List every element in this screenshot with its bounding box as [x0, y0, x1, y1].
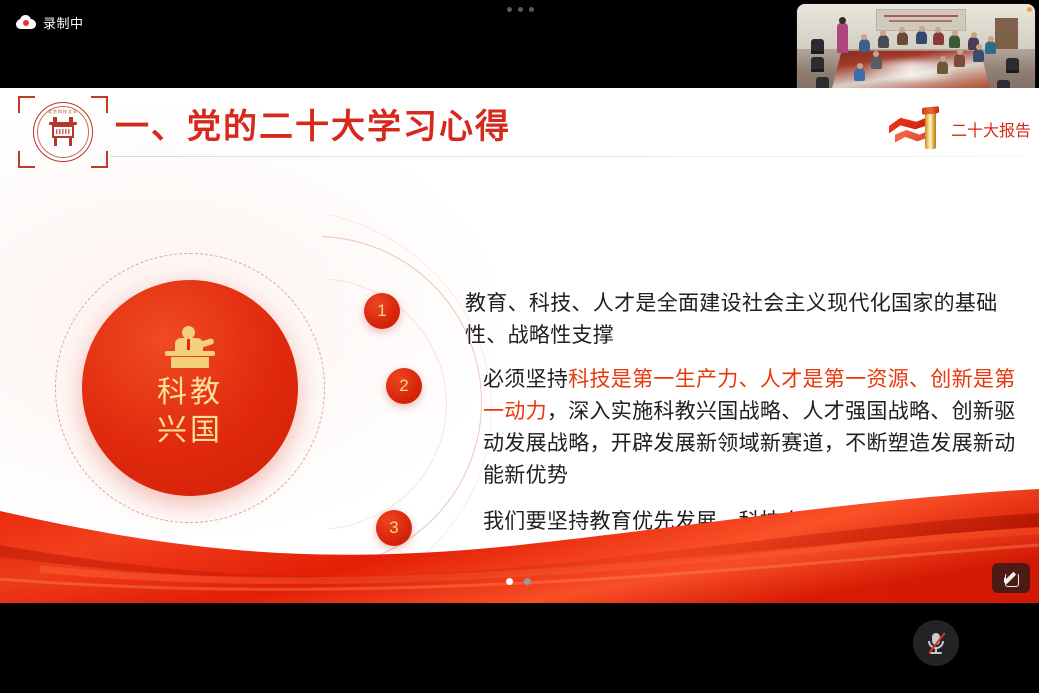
- corner-mark-top-left: [18, 96, 35, 113]
- recording-label: 录制中: [43, 13, 84, 32]
- emblem-text-line2: 兴国: [157, 412, 223, 450]
- report-badge-label: 二十大报告: [951, 117, 1031, 141]
- corner-mark-bottom-right: [91, 151, 108, 168]
- recording-indicator: 录制中: [16, 12, 84, 32]
- microphone-toggle-button[interactable]: [913, 620, 959, 666]
- slide-header: 北京科技大学 一、党的二十大学习心得: [0, 88, 1039, 170]
- point-number-badge: 1: [364, 293, 400, 329]
- red-ribbon-scroll-icon: [889, 107, 947, 151]
- corner-mark-top-right: [91, 96, 108, 113]
- corner-mark-bottom-left: [18, 151, 35, 168]
- bottom-bar: [0, 603, 1039, 693]
- pen-annotate-icon: [1002, 569, 1021, 588]
- cloud-recording-icon: [16, 16, 36, 29]
- annotate-button[interactable]: [992, 563, 1030, 593]
- point-segment: 必须坚持: [483, 368, 568, 391]
- point-segment: 我们要坚持教育优先发展、科技自立自强、人才引领驱动: [483, 510, 1016, 533]
- emblem-text-line1: 科教: [157, 374, 223, 412]
- point-number-badge: 3: [376, 510, 412, 546]
- presentation-slide[interactable]: 北京科技大学 一、党的二十大学习心得: [0, 88, 1039, 603]
- point-text: 教育、科技、人才是全面建设社会主义现代化国家的基础性、战略性支撑: [465, 288, 1020, 352]
- list-item: 3 我们要坚持教育优先发展、科技自立自强、人才引领驱动: [360, 506, 1020, 538]
- speaker-podium-icon: [161, 326, 219, 368]
- pagination-dot-active[interactable]: [506, 578, 513, 585]
- point-text: 我们要坚持教育优先发展、科技自立自强、人才引领驱动: [483, 506, 1020, 538]
- emblem-graphic: 科教 兴国: [55, 253, 325, 523]
- point-segment: ，深入实施科教兴国战略、人才强国战略、创新驱动发展战略，开辟发展新领域新赛道，不…: [483, 400, 1016, 487]
- list-item: 2 必须坚持科技是第一生产力、人才是第一资源、创新是第一动力，深入实施科教兴国战…: [360, 364, 1020, 492]
- top-bar: 录制中: [0, 0, 1039, 88]
- video-status-dot: [1027, 7, 1032, 12]
- title-divider: [110, 156, 1022, 157]
- point-number-badge: 2: [386, 368, 422, 404]
- point-text: 办好人民满意的教育，全面贯彻党的教育方针，把各方面优秀人才集聚到党和人民事业中来: [460, 552, 1020, 603]
- university-seal-icon: 北京科技大学: [33, 102, 93, 162]
- logo-frame: 北京科技大学: [18, 96, 108, 168]
- points-list: 1 教育、科技、人才是全面建设社会主义现代化国家的基础性、战略性支撑 2 必须坚…: [360, 288, 1020, 603]
- point-segment: 教育、科技、人才是全面建设社会主义现代化国家的基础性、战略性支撑: [465, 292, 998, 347]
- slide-pagination-dots[interactable]: [506, 578, 531, 585]
- list-item: 1 教育、科技、人才是全面建设社会主义现代化国家的基础性、战略性支撑: [360, 288, 1020, 352]
- point-number-badge: 4: [328, 558, 364, 594]
- report-badge: 二十大报告: [889, 106, 1031, 152]
- seal-top-text: 北京科技大学: [34, 109, 92, 115]
- emblem-circle: 科教 兴国: [82, 280, 298, 496]
- list-item: 4 办好人民满意的教育，全面贯彻党的教育方针，把各方面优秀人才集聚到党和人民事业…: [360, 552, 1020, 603]
- point-segment: 办好人民满意的教育，全面贯彻党的教育方针，: [460, 556, 907, 579]
- point-text: 必须坚持科技是第一生产力、人才是第一资源、创新是第一动力，深入实施科教兴国战略、…: [483, 364, 1020, 492]
- pagination-dot[interactable]: [524, 578, 531, 585]
- meeting-screen-share-app: 录制中: [0, 0, 1039, 693]
- page-title: 一、党的二十大学习心得: [115, 98, 511, 156]
- more-dots-icon[interactable]: [507, 7, 534, 12]
- microphone-muted-icon: [925, 631, 947, 655]
